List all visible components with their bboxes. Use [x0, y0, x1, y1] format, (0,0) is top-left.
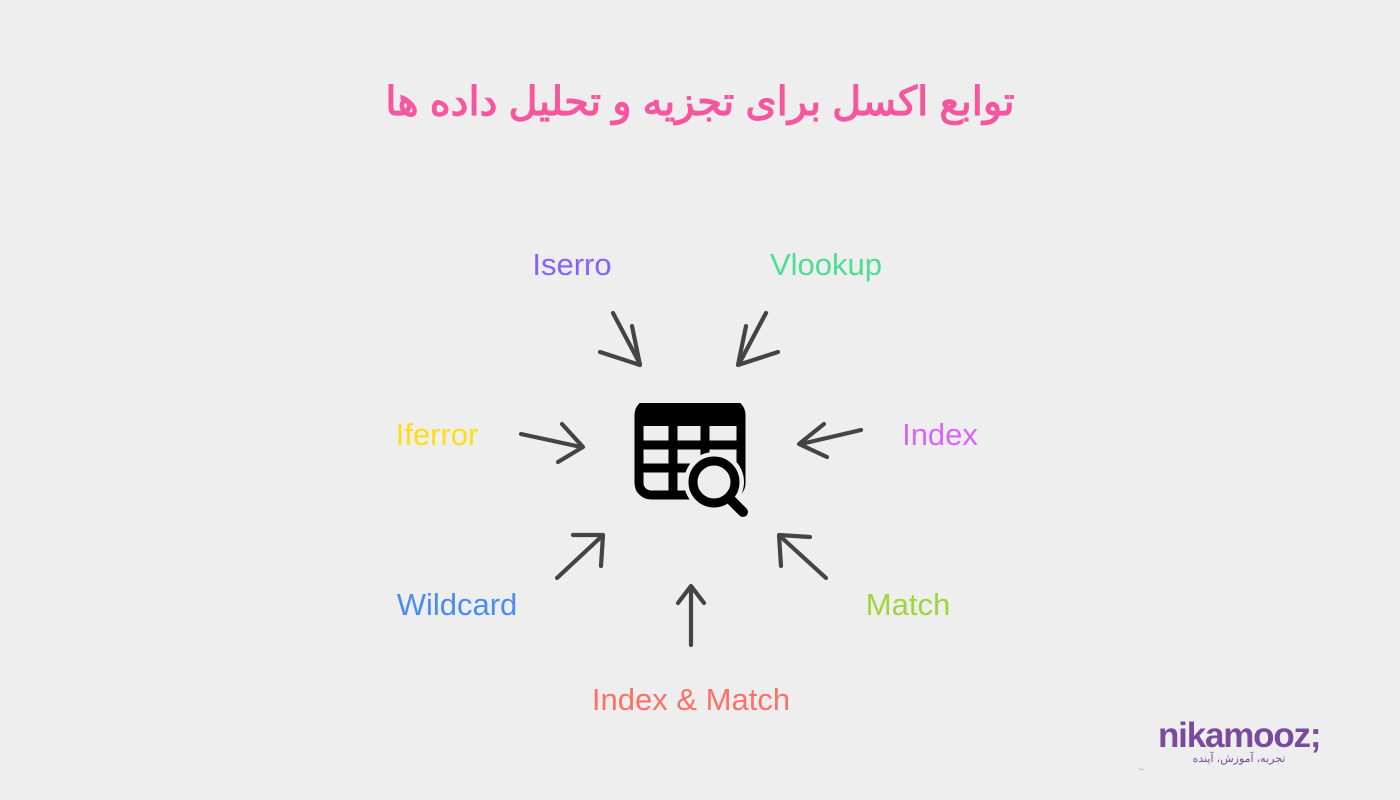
arrow-from-iserro	[600, 313, 640, 365]
arrow-from-vlookup	[738, 313, 778, 365]
logo-tagline: تجربه، آموزش، آینده	[1156, 754, 1322, 765]
arrow-from-iferror	[521, 424, 583, 462]
arrow-from-index-match	[678, 586, 704, 645]
label-vlookup: Vlookup	[770, 249, 882, 280]
arrow-from-index	[799, 424, 861, 457]
label-wildcard: Wildcard	[397, 589, 518, 620]
logo-small-mark: ~	[1138, 764, 1144, 776]
label-index-and-match: Index & Match	[592, 684, 790, 715]
label-index: Index	[902, 419, 978, 450]
label-match: Match	[866, 589, 950, 620]
arrow-from-wildcard	[557, 535, 603, 578]
logo-wordmark: nikamooz;	[1158, 718, 1320, 753]
label-iserro: Iserro	[532, 249, 611, 280]
nikamooz-logo: nikamooz; تجربه، آموزش، آینده ~	[1120, 712, 1340, 788]
page-title: توابع اکسل برای تجزیه و تحلیل داده ها	[0, 78, 1400, 126]
infographic-canvas: توابع اکسل برای تجزیه و تحلیل داده ها	[0, 0, 1400, 800]
arrow-from-match	[779, 535, 826, 578]
label-iferror: Iferror	[396, 419, 479, 450]
table-search-icon	[625, 403, 755, 518]
